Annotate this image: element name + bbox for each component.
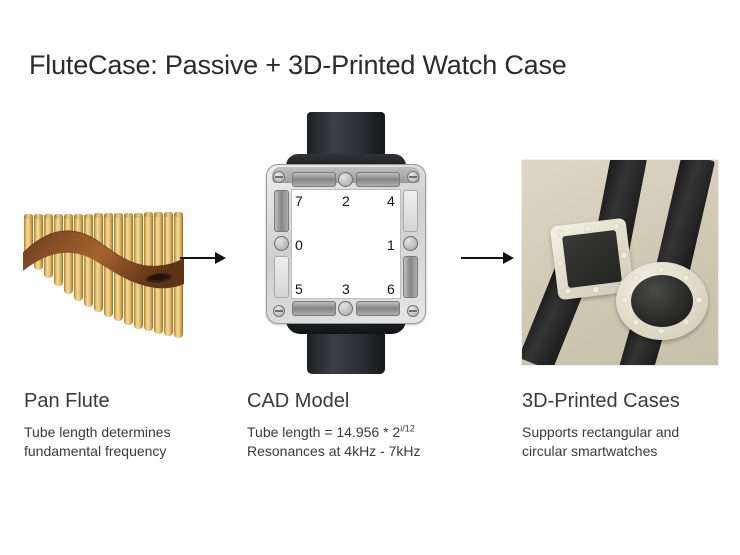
arrow-shaft — [461, 257, 504, 259]
tube-segment-top-left — [292, 172, 336, 187]
caption-body: Tube length = 14.956 * 2i/12 Resonances … — [247, 423, 421, 461]
tube-label-1: 1 — [387, 237, 395, 253]
tube-segment-bottom-right — [356, 301, 400, 316]
square-case-boss — [564, 288, 571, 295]
square-case-boss — [620, 252, 627, 259]
caption-line: Supports rectangular and — [522, 423, 680, 442]
circular-case-boss — [658, 267, 664, 273]
caption-pan-flute: Pan Flute Tube length determines fundame… — [24, 390, 171, 461]
tube-port-right — [403, 236, 418, 251]
circular-case-boss — [622, 297, 628, 303]
tube-segment-top-right — [356, 172, 400, 187]
arrow-flute-to-cad — [180, 250, 226, 266]
arrow-cad-to-cases — [461, 250, 514, 266]
circular-case-boss — [633, 275, 639, 281]
tube-label-2: 2 — [342, 193, 350, 209]
tube-label-5: 5 — [295, 281, 303, 297]
caption-cad-model: CAD Model Tube length = 14.956 * 2i/12 R… — [247, 390, 421, 461]
case-screw-bottom-left — [273, 305, 285, 317]
formula-base: Tube length = 14.956 * 2 — [247, 424, 400, 440]
square-case-opening — [562, 230, 622, 288]
caption-line: Tube length determines — [24, 423, 171, 442]
caption-line: circular smartwatches — [522, 442, 680, 461]
case-screw-bottom-right — [407, 305, 419, 317]
circular-case-boss — [683, 319, 689, 325]
watch-case-body: 7 2 4 0 1 5 3 6 — [266, 164, 426, 324]
square-case-boss — [557, 260, 564, 267]
slide-canvas: FluteCase: Passive + 3D-Printed Watch Ca… — [0, 0, 740, 555]
arrow-head — [215, 252, 226, 264]
arrow-shaft — [180, 257, 216, 259]
circular-case-boss — [696, 297, 702, 303]
tube-segment-right-upper — [403, 190, 418, 232]
case-screw-top-left — [273, 171, 285, 183]
caption-line-formula: Tube length = 14.956 * 2i/12 — [247, 423, 421, 442]
caption-line: fundamental frequency — [24, 442, 171, 461]
caption-heading: 3D-Printed Cases — [522, 390, 680, 413]
circular-case-boss — [683, 275, 689, 281]
caption-printed-cases: 3D-Printed Cases Supports rectangular an… — [522, 390, 680, 461]
tube-segment-right-lower — [403, 256, 418, 298]
tube-segment-left-lower — [274, 256, 289, 298]
square-case-boss — [585, 225, 592, 232]
tube-label-0: 0 — [295, 237, 303, 253]
tube-port-top — [338, 172, 353, 187]
circular-printed-case — [616, 262, 708, 340]
page-title: FluteCase: Passive + 3D-Printed Watch Ca… — [29, 50, 567, 81]
caption-body: Tube length determines fundamental frequ… — [24, 423, 171, 461]
cad-watch-render: 7 2 4 0 1 5 3 6 — [258, 112, 434, 374]
case-screw-top-right — [407, 171, 419, 183]
printed-cases-photo — [522, 160, 718, 365]
caption-line: Resonances at 4kHz - 7kHz — [247, 442, 421, 461]
square-case-boss — [592, 286, 599, 293]
tube-label-6: 6 — [387, 281, 395, 297]
tube-port-left — [274, 236, 289, 251]
pan-flute-photo — [18, 196, 188, 338]
circular-case-boss — [633, 319, 639, 325]
tube-label-4: 4 — [387, 193, 395, 209]
caption-heading: CAD Model — [247, 390, 421, 413]
circular-case-boss — [658, 328, 664, 334]
pan-flute-svg — [18, 196, 188, 338]
square-case-boss — [613, 223, 620, 230]
arrow-head — [503, 252, 514, 264]
caption-heading: Pan Flute — [24, 390, 171, 413]
tube-segment-left-upper — [274, 190, 289, 232]
tube-segment-bottom-left — [292, 301, 336, 316]
caption-body: Supports rectangular and circular smartw… — [522, 423, 680, 461]
tube-label-7: 7 — [295, 193, 303, 209]
tube-label-3: 3 — [342, 281, 350, 297]
tube-port-bottom — [338, 301, 353, 316]
strap-circle-upper — [655, 160, 715, 278]
formula-exponent: i/12 — [400, 423, 415, 433]
